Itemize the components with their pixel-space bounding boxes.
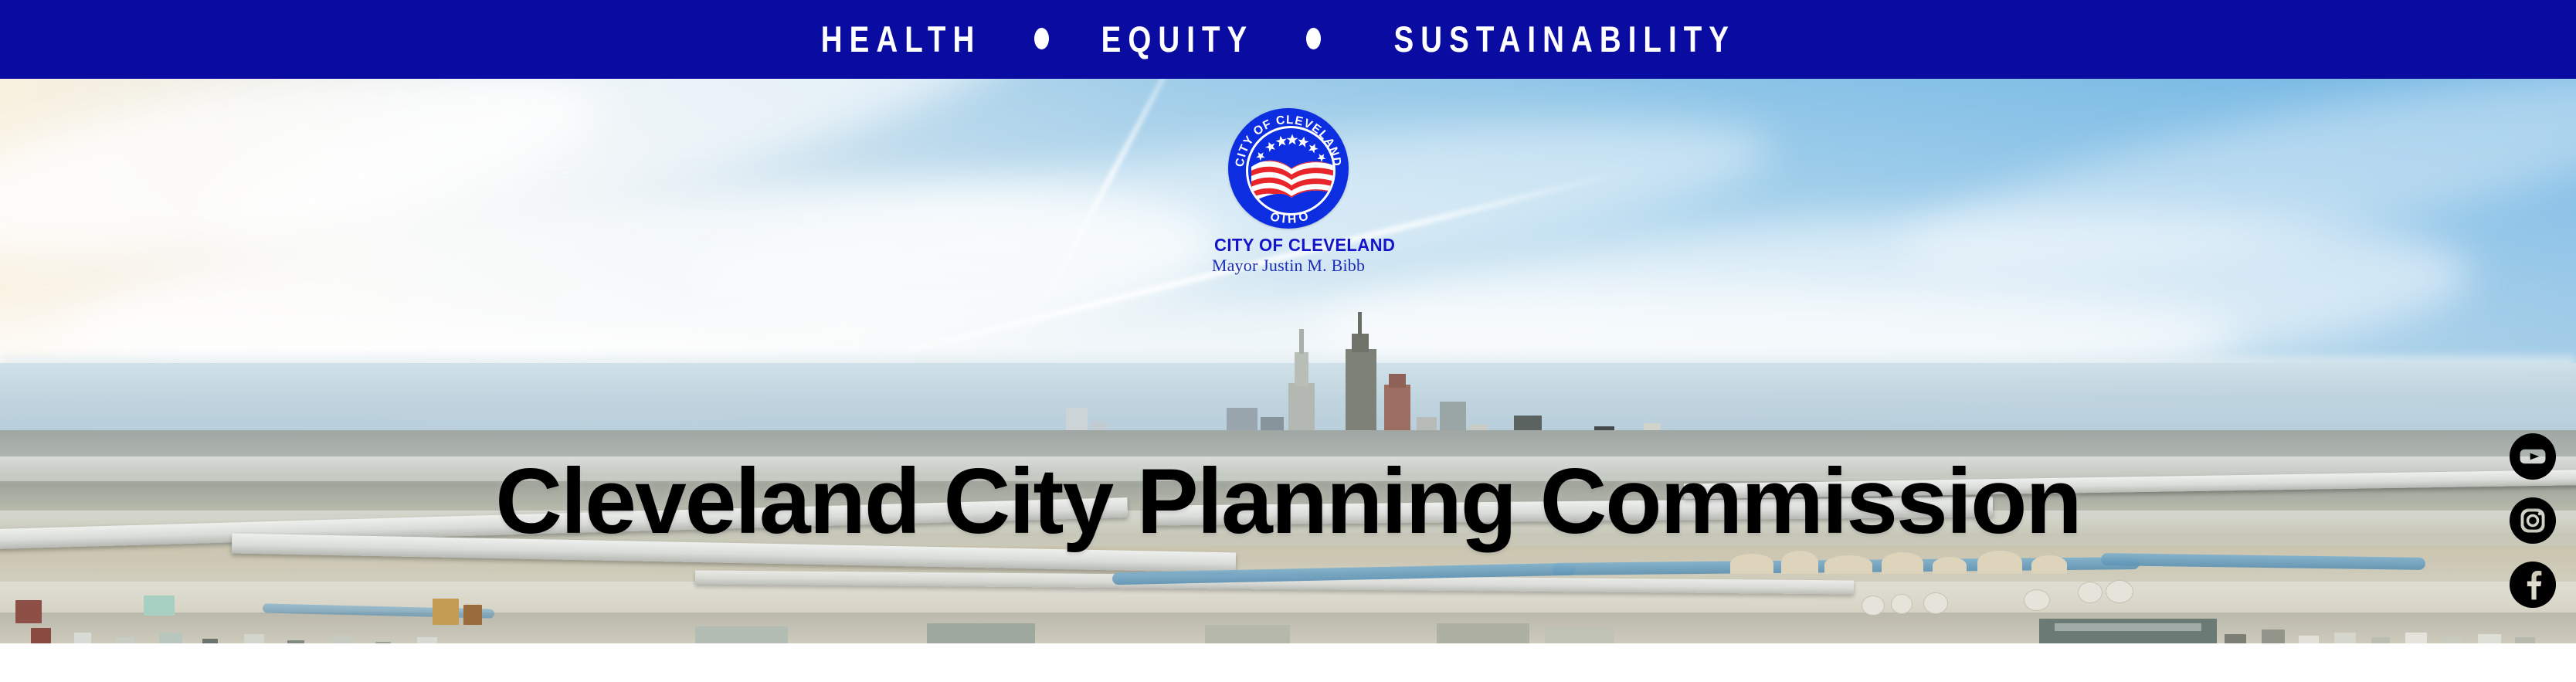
bullet-dot-icon-2: [1306, 28, 1321, 49]
city-seal-icon: CITY OF CLEVELAND OHIO: [1228, 108, 1349, 229]
tagline-banner: HEALTH EQUITY SUSTAINABILITY: [0, 0, 2576, 79]
tagline-word-sustainability: SUSTAINABILITY: [1393, 21, 1735, 57]
tagline-word-health: HEALTH: [820, 21, 981, 57]
page-title: Cleveland City Planning Commission: [0, 455, 2576, 548]
youtube-icon[interactable]: [2509, 433, 2557, 480]
instagram-icon[interactable]: [2509, 497, 2557, 545]
social-links: [2509, 433, 2557, 609]
seal-inner-disc: [1246, 126, 1336, 215]
org-name: CITY OF CLEVELAND: [1214, 236, 1363, 254]
bullet-dot-icon-1: [1034, 28, 1049, 49]
footer-whitespace: [0, 643, 2576, 682]
seal-flag-icon: [1247, 150, 1336, 212]
page-root: HEALTH EQUITY SUSTAINABILITY: [0, 0, 2576, 682]
tagline-word-equity: EQUITY: [1101, 21, 1254, 57]
tagline-words: HEALTH EQUITY SUSTAINABILITY: [803, 21, 1773, 57]
facebook-icon[interactable]: [2509, 561, 2557, 609]
city-of-cleveland-seal-block: CITY OF CLEVELAND OHIO: [1211, 108, 1366, 274]
mayor-line: Mayor Justin M. Bibb: [1211, 256, 1366, 274]
hero-banner-photo: CITY OF CLEVELAND OHIO: [0, 79, 2576, 643]
